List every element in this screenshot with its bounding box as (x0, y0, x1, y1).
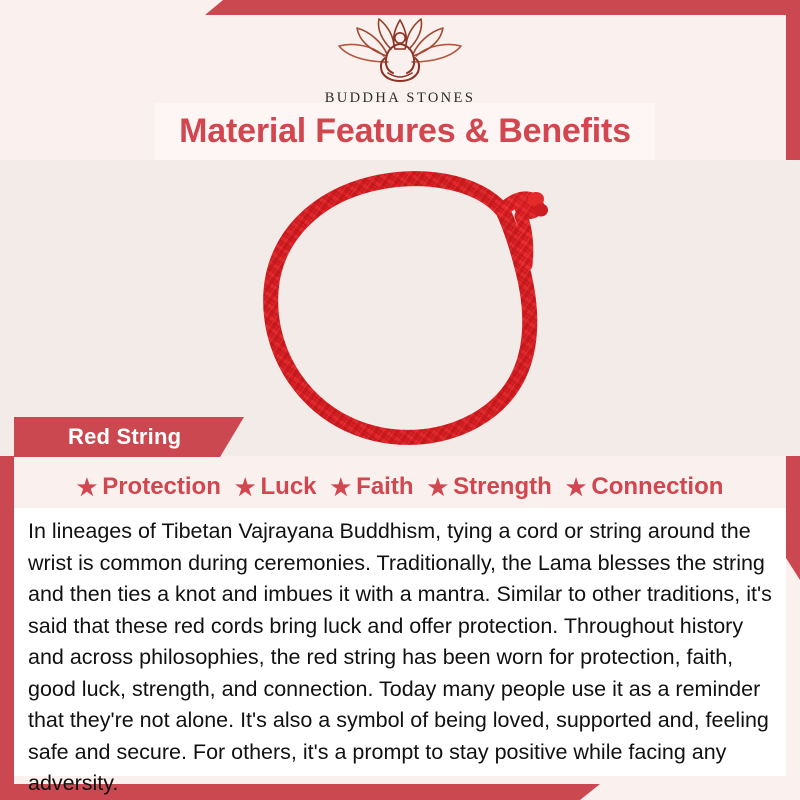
infographic-page: BUDDHA STONES Material Features & Benefi… (0, 0, 800, 800)
page-title: Material Features & Benefits (179, 112, 631, 151)
product-name-label: Red String (68, 424, 181, 450)
description-text: In lineages of Tibetan Vajrayana Buddhis… (28, 516, 772, 800)
star-icon: ★ (235, 476, 256, 499)
benefit-item: ★ Faith (327, 473, 418, 501)
lotus-meditation-figure-icon (325, 16, 475, 88)
benefit-item: ★ Protection (73, 473, 225, 501)
benefits-row: ★ Protection ★ Luck ★ Faith ★ Strength ★… (14, 466, 786, 508)
decor-top-right-bar (205, 0, 800, 15)
star-icon: ★ (427, 476, 448, 499)
benefit-label: Luck (261, 473, 317, 501)
benefit-item: ★ Strength (423, 473, 555, 501)
brand-block: BUDDHA STONES (0, 16, 800, 107)
description-panel: In lineages of Tibetan Vajrayana Buddhis… (14, 508, 786, 776)
benefit-label: Faith (356, 473, 413, 501)
star-icon: ★ (566, 476, 587, 499)
benefit-item: ★ Connection (562, 473, 728, 501)
benefit-label: Strength (453, 473, 552, 501)
star-icon: ★ (77, 476, 98, 499)
star-icon: ★ (331, 476, 352, 499)
red-braided-string-bracelet (245, 166, 585, 456)
headline-banner: Material Features & Benefits (155, 103, 655, 160)
benefit-item: ★ Luck (231, 473, 321, 501)
benefit-label: Protection (102, 473, 221, 501)
benefit-label: Connection (591, 473, 723, 501)
product-name-ribbon: Red String (14, 417, 244, 457)
